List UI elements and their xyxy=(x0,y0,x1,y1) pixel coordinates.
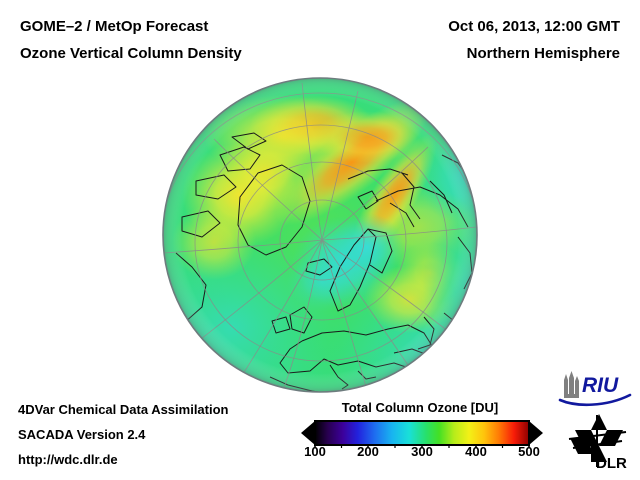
page-title: GOME–2 / MetOp Forecast xyxy=(20,18,208,35)
colorbar-tick-100: 100 xyxy=(304,444,326,459)
assimilation-method-label: 4DVar Chemical Data Assimilation xyxy=(18,402,229,417)
riu-logo: RIU xyxy=(558,370,634,408)
forecast-timestamp: Oct 06, 2013, 12:00 GMT xyxy=(448,18,620,35)
forecast-figure: GOME–2 / MetOp Forecast Ozone Vertical C… xyxy=(0,0,640,480)
website-link[interactable]: http://wdc.dlr.de xyxy=(18,452,118,467)
colorbar-cap-left xyxy=(301,421,315,445)
ozone-globe-map xyxy=(162,77,478,393)
orthographic-projection xyxy=(162,77,478,393)
page-subtitle: Ozone Vertical Column Density xyxy=(20,45,242,62)
colorbar-tick-labels: 100 200 300 400 500 xyxy=(300,444,540,466)
colorbar-tick-500: 500 xyxy=(518,444,540,459)
colorbar-tick-200: 200 xyxy=(357,444,379,459)
colorbar-title: Total Column Ozone [DU] xyxy=(300,400,540,415)
colorbar-bar xyxy=(315,421,529,445)
colorbar-cap-right xyxy=(529,421,543,445)
dlr-logo: DLR xyxy=(566,412,632,470)
riu-wordmark: RIU xyxy=(582,374,619,397)
version-label: SACADA Version 2.4 xyxy=(18,427,145,442)
region-label: Northern Hemisphere xyxy=(467,45,620,62)
dlr-wordmark: DLR xyxy=(596,455,627,470)
riu-tower-icon xyxy=(564,371,579,398)
colorbar-tick-400: 400 xyxy=(465,444,487,459)
colorbar: Total Column Ozone [DU] xyxy=(300,400,548,472)
colorbar-tick-300: 300 xyxy=(411,444,433,459)
